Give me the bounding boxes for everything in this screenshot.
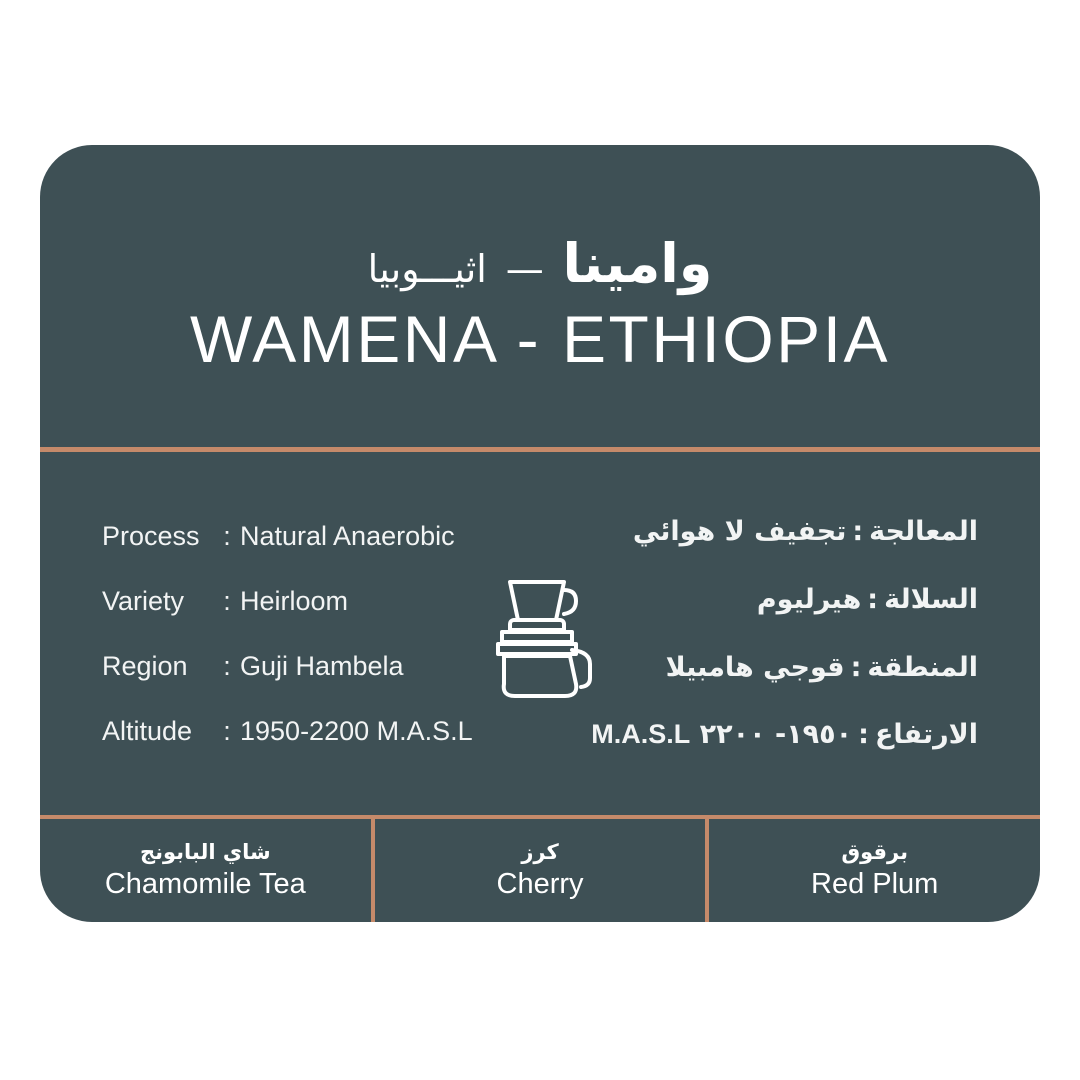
- info-value-altitude-ar: ١٩٥٠- ٢٢٠٠: [700, 719, 852, 750]
- flavour-note-item: شاي البابونج Chamomile Tea: [40, 819, 371, 922]
- flavour-note-english: Chamomile Tea: [105, 867, 306, 902]
- flavour-note-item: برقوق Red Plum: [705, 819, 1040, 922]
- info-row-region-en: Region : Guji Hambela: [102, 651, 404, 682]
- flavour-note-arabic: كرز: [521, 839, 558, 865]
- info-separator-region-en: :: [214, 651, 240, 682]
- info-column-arabic: المعالجة:تجفيف لا هوائي السلالة:هيرليوم …: [618, 515, 978, 752]
- info-value-variety-en: Heirloom: [240, 586, 348, 617]
- info-value-altitude-en: 1950-2200 M.A.S.L: [240, 716, 473, 747]
- label-canvas: وامينا — اثيـــوبيا WAMENA - ETHIOPIA Pr…: [0, 0, 1080, 1080]
- info-label-variety-ar: السلالة: [884, 584, 978, 615]
- pour-over-brewer-icon: [475, 564, 605, 704]
- info-column-english: Process : Natural Anaerobic Variety : He…: [102, 521, 502, 747]
- info-value-process-en: Natural Anaerobic: [240, 521, 455, 552]
- info-separator-process-ar: :: [846, 516, 869, 547]
- flavour-note-english: Cherry: [497, 867, 584, 902]
- info-label-region-ar: المنطقة: [867, 652, 978, 683]
- info-value-region-ar: قوجي هامبيلا: [666, 652, 845, 683]
- info-row-altitude-en: Altitude : 1950-2200 M.A.S.L: [102, 716, 473, 747]
- title-english: WAMENA - ETHIOPIA: [190, 302, 890, 378]
- flavour-note-arabic: برقوق: [841, 839, 908, 865]
- info-label-altitude-en: Altitude: [102, 716, 214, 747]
- flavour-note-item: كرز Cherry: [371, 819, 706, 922]
- info-value-altitude-ar-unit: M.A.S.L: [591, 719, 690, 749]
- flavour-note-english: Red Plum: [811, 867, 938, 902]
- info-separator-process-en: :: [214, 521, 240, 552]
- info-label-process-ar: المعالجة: [869, 516, 978, 547]
- title-arabic-origin: اثيـــوبيا: [368, 247, 487, 291]
- flavour-note-arabic: شاي البابونج: [140, 839, 271, 865]
- info-value-region-en: Guji Hambela: [240, 651, 404, 682]
- info-label-altitude-ar: الارتفاع: [875, 719, 978, 750]
- info-row-process-en: Process : Natural Anaerobic: [102, 521, 455, 552]
- title-arabic: وامينا — اثيـــوبيا: [368, 232, 713, 296]
- info-row-variety-en: Variety : Heirloom: [102, 586, 348, 617]
- info-row-process-ar: المعالجة:تجفيف لا هوائي: [633, 515, 978, 549]
- label-info-section: Process : Natural Anaerobic Variety : He…: [40, 452, 1040, 815]
- flavour-notes-section: شاي البابونج Chamomile Tea كرز Cherry بر…: [40, 815, 1040, 922]
- info-value-variety-ar: هيرليوم: [757, 584, 861, 615]
- info-separator-variety-ar: :: [861, 584, 884, 615]
- info-label-region-en: Region: [102, 651, 214, 682]
- info-separator-variety-en: :: [214, 586, 240, 617]
- info-separator-altitude-en: :: [214, 716, 240, 747]
- info-row-variety-ar: السلالة:هيرليوم: [757, 583, 978, 617]
- title-arabic-name: وامينا: [563, 232, 713, 295]
- info-label-variety-en: Variety: [102, 586, 214, 617]
- info-row-altitude-ar: الارتفاع:١٩٥٠- ٢٢٠٠ M.A.S.L: [591, 718, 978, 752]
- info-row-region-ar: المنطقة:قوجي هامبيلا: [666, 651, 978, 685]
- info-separator-altitude-ar: :: [852, 719, 875, 750]
- info-value-process-ar: تجفيف لا هوائي: [633, 516, 846, 547]
- label-header: وامينا — اثيـــوبيا WAMENA - ETHIOPIA: [40, 145, 1040, 447]
- info-separator-region-ar: :: [845, 652, 868, 683]
- title-arabic-dash: —: [506, 247, 544, 291]
- info-label-process-en: Process: [102, 521, 214, 552]
- coffee-label-card: وامينا — اثيـــوبيا WAMENA - ETHIOPIA Pr…: [40, 145, 1040, 922]
